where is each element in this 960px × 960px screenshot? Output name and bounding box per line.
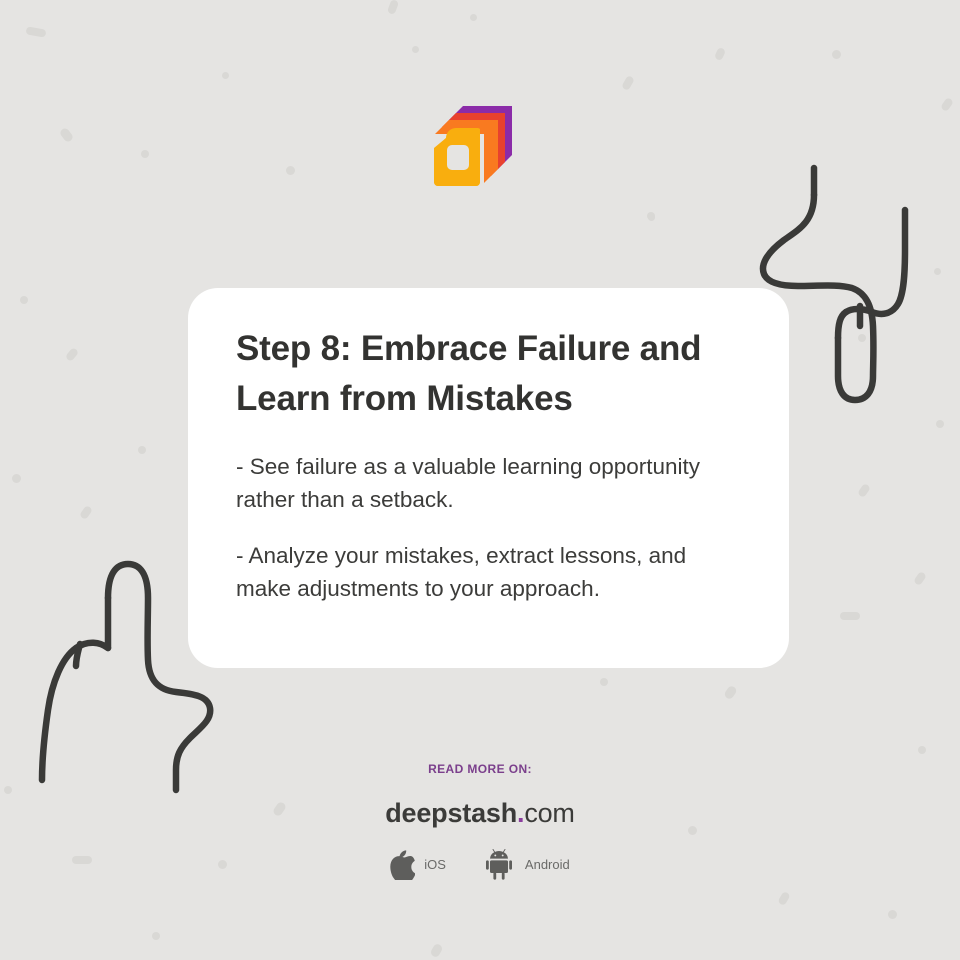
background-speck	[65, 347, 79, 362]
background-speck	[648, 214, 655, 221]
read-more-on-label: READ MORE ON:	[0, 762, 960, 776]
background-speck	[470, 14, 477, 21]
background-speck	[286, 166, 295, 175]
android-icon	[486, 849, 516, 880]
background-speck	[387, 0, 399, 15]
store-badge-ios[interactable]: iOS	[390, 850, 446, 880]
background-speck	[152, 932, 160, 940]
background-speck	[832, 50, 841, 59]
background-speck	[138, 446, 146, 454]
background-speck	[20, 296, 28, 304]
background-speck	[714, 47, 726, 61]
background-speck	[647, 212, 655, 220]
background-speck	[858, 334, 866, 342]
deepstash-logo	[430, 104, 516, 197]
background-speck	[918, 746, 926, 754]
card-title: Step 8: Embrace Failure and Learn from M…	[236, 324, 741, 424]
background-speck	[913, 571, 927, 586]
background-speck	[888, 910, 897, 919]
background-speck	[25, 26, 46, 37]
wordmark-tld: com	[524, 798, 574, 828]
pointing-hand-up-icon	[8, 548, 218, 798]
background-speck	[777, 891, 790, 906]
wordmark-brand: deepstash	[385, 798, 517, 828]
background-speck	[222, 72, 229, 79]
card-paragraph-2: - Analyze your mistakes, extract lessons…	[236, 539, 741, 605]
background-speck	[621, 75, 635, 91]
footer: READ MORE ON: deepstash.com iOS	[0, 762, 960, 880]
background-speck	[940, 97, 954, 112]
background-speck	[412, 46, 419, 53]
background-speck	[857, 483, 871, 498]
deepstash-wordmark[interactable]: deepstash.com	[0, 800, 960, 827]
background-speck	[723, 685, 738, 701]
background-speck	[840, 612, 860, 620]
background-speck	[141, 150, 149, 158]
background-speck	[59, 127, 75, 144]
background-speck	[934, 268, 941, 275]
poster-canvas: Step 8: Embrace Failure and Learn from M…	[0, 0, 960, 960]
background-speck	[12, 474, 21, 483]
store-badge-android[interactable]: Android	[486, 849, 570, 880]
content-card: Step 8: Embrace Failure and Learn from M…	[188, 288, 789, 668]
background-speck	[936, 420, 944, 428]
background-speck	[429, 943, 443, 959]
store-badges: iOS Android	[0, 849, 960, 880]
card-paragraph-1: - See failure as a valuable learning opp…	[236, 450, 741, 516]
apple-icon	[390, 850, 415, 880]
background-speck	[600, 678, 608, 686]
background-speck	[79, 505, 93, 520]
store-label-ios: iOS	[424, 857, 446, 872]
store-label-android: Android	[525, 857, 570, 872]
